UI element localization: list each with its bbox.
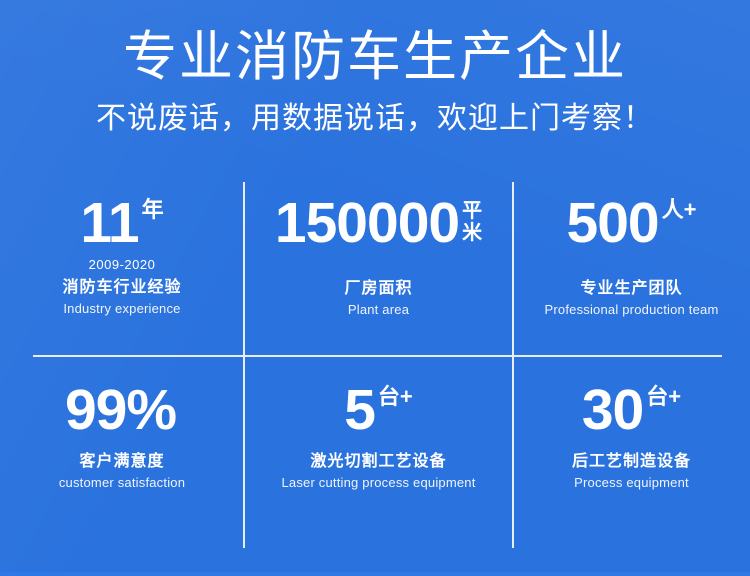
stat-cell-production-team: 500 人+ 专业生产团队 Professional production te… bbox=[513, 182, 750, 355]
stat-number: 5 bbox=[344, 381, 375, 439]
stat-cell-industry-experience: 11 年 2009-2020 消防车行业经验 Industry experien… bbox=[0, 182, 244, 355]
stat-number: 500 bbox=[567, 194, 659, 252]
stat-cell-customer-satisfaction: 99% 客户满意度 customer satisfaction bbox=[0, 355, 244, 550]
bottom-strip bbox=[0, 572, 750, 576]
stat-unit: 人+ bbox=[662, 194, 697, 221]
stat-cell-laser-cutting-equipment: 5 台+ 激光切割工艺设备 Laser cutting process equi… bbox=[244, 355, 513, 550]
stat-label-en: Professional production team bbox=[545, 301, 719, 319]
stat-label-en: customer satisfaction bbox=[59, 474, 185, 492]
page-title: 专业消防车生产企业 bbox=[0, 26, 750, 88]
stat-unit: 台+ bbox=[378, 381, 413, 408]
stat-label-en: Process equipment bbox=[574, 474, 689, 492]
stat-year-range: 2009-2020 bbox=[89, 256, 156, 273]
stat-label-cn: 客户满意度 bbox=[79, 451, 164, 473]
stat-label-cn: 消防车行业经验 bbox=[62, 277, 181, 299]
stat-figure: 500 人+ bbox=[567, 194, 697, 252]
stat-figure: 5 台+ bbox=[344, 381, 413, 439]
banner-header: 专业消防车生产企业 不说废话，用数据说话，欢迎上门考察！ bbox=[0, 26, 750, 138]
stat-label-en: Industry experience bbox=[63, 300, 180, 318]
stat-cell-plant-area: 150000 平 米 厂房面积 Plant area bbox=[244, 182, 513, 355]
page-subtitle: 不说废话，用数据说话，欢迎上门考察！ bbox=[0, 100, 750, 138]
stat-figure: 30 台+ bbox=[582, 381, 681, 439]
stat-label-cn: 厂房面积 bbox=[344, 278, 412, 300]
stat-figure: 150000 平 米 bbox=[275, 194, 482, 252]
stats-grid: 11 年 2009-2020 消防车行业经验 Industry experien… bbox=[0, 182, 750, 550]
promo-banner: 专业消防车生产企业 不说废话，用数据说话，欢迎上门考察！ 11 年 2009-2… bbox=[0, 0, 750, 576]
stat-number: 150000 bbox=[275, 194, 459, 252]
stat-unit: 台+ bbox=[646, 381, 681, 408]
stat-label-en: Laser cutting process equipment bbox=[281, 474, 475, 492]
stat-label-en: Plant area bbox=[348, 301, 409, 319]
stat-figure: 99% bbox=[65, 381, 179, 439]
stat-label-cn: 专业生产团队 bbox=[580, 278, 682, 300]
stat-label-cn: 激光切割工艺设备 bbox=[310, 451, 446, 473]
stat-unit-line-2: 米 bbox=[462, 222, 482, 244]
stat-cell-process-equipment: 30 台+ 后工艺制造设备 Process equipment bbox=[513, 355, 750, 550]
stat-unit: 平 米 bbox=[462, 194, 482, 244]
stat-number: 30 bbox=[582, 381, 643, 439]
stat-number: 99% bbox=[65, 381, 176, 439]
stat-unit: 年 bbox=[142, 194, 164, 221]
stat-unit-line-1: 平 bbox=[462, 200, 482, 222]
stat-figure: 11 年 bbox=[80, 194, 163, 252]
stat-label-cn: 后工艺制造设备 bbox=[572, 451, 691, 473]
stat-number: 11 bbox=[80, 194, 138, 252]
